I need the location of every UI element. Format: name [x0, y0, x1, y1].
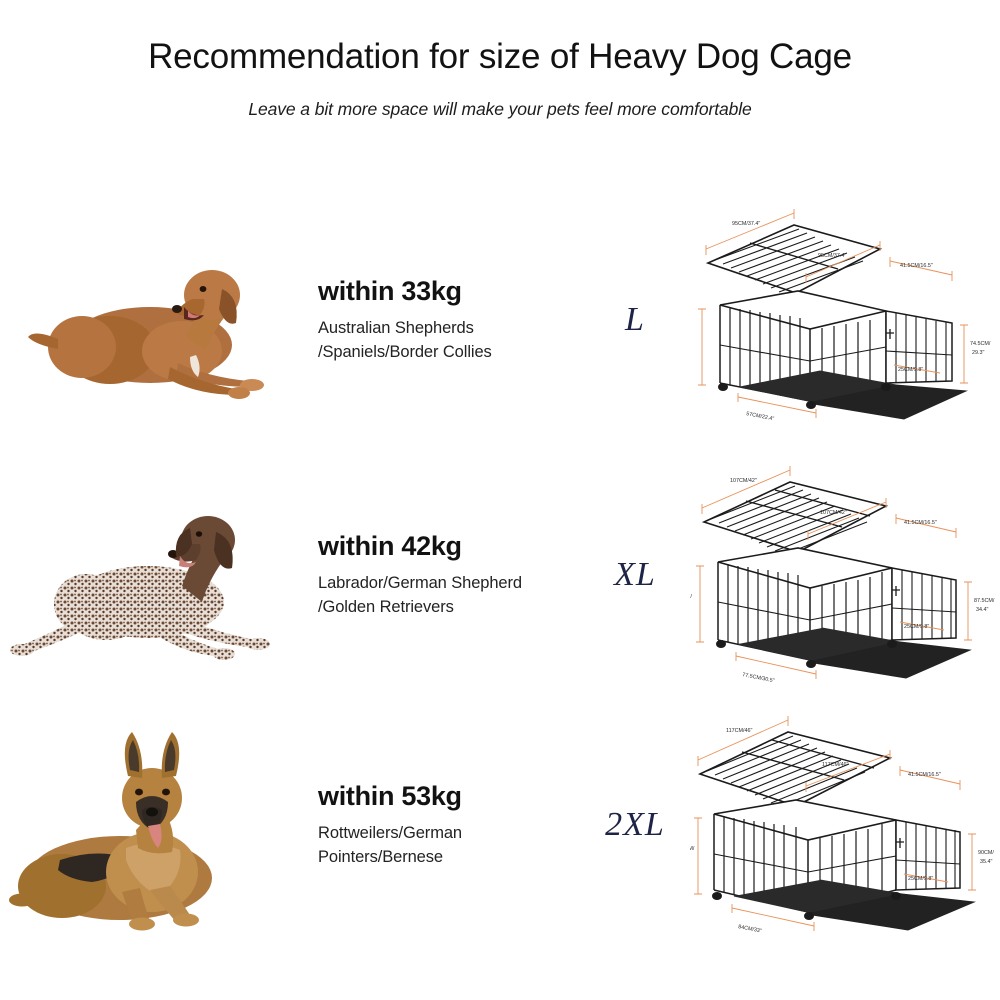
dim-body-depth-3: 117CM/46": [822, 762, 848, 768]
dim-right-height-2a: 87.5CM/: [974, 598, 995, 604]
size-row-2xl: within 53kg Rottweilers/German Pointers/…: [0, 700, 1000, 950]
dim-base-width-2: 77.5CM/30.5": [742, 672, 775, 684]
cage-diagram-xl-icon: 107CM/42" 107CM/42" 41.5CM/16.5" 94CM/ 3…: [690, 460, 1000, 690]
page-title: Recommendation for size of Heavy Dog Cag…: [0, 38, 1000, 77]
dim-right-height-1a: 74.5CM/: [970, 341, 991, 347]
dim-body-depth-2: 107CM/42": [820, 510, 847, 516]
size-info-cell-1: within 33kg Australian Shepherds /Spanie…: [300, 276, 580, 365]
size-code-xl: XL: [614, 556, 656, 593]
size-info-cell-2: within 42kg Labrador/German Shepherd /Go…: [300, 531, 580, 620]
dim-right-height-3a: 90CM/: [978, 850, 994, 856]
breed-line-2a: Labrador/German Shepherd: [318, 572, 580, 596]
dog-photo-cell-1: [0, 205, 300, 435]
cage-diagram-cell-1: 95CM/37.4" 95CM/37.4" 41.5CM/16.5" 81CM/…: [690, 205, 1000, 435]
size-row-l: within 33kg Australian Shepherds /Spanie…: [0, 195, 1000, 445]
dim-door-width-3: 41.5CM/16.5": [908, 772, 941, 778]
cage-diagram-cell-3: 117CM/46" 117CM/46" 41.5CM/16.5" 96.5CM/…: [690, 710, 1000, 940]
dim-base-width-1: 57CM/22.4": [746, 411, 775, 422]
dim-small-door-3: 25CM/9.8": [908, 876, 933, 882]
dog-lying-pointer-icon: [0, 460, 300, 690]
weight-label-1: within 33kg: [318, 276, 580, 307]
dim-body-depth-1: 95CM/37.4": [818, 253, 846, 259]
dog-photo-cell-2: [0, 460, 300, 690]
dim-lid-width-1: 95CM/37.4": [732, 221, 760, 227]
size-code-2xl: 2XL: [605, 806, 665, 843]
dog-photo-cell-3: [0, 710, 300, 940]
breed-line-3b: Pointers/Bernese: [318, 846, 580, 870]
dim-right-height-1b: 29.3": [972, 350, 984, 356]
size-code-cell-3: 2XL: [580, 806, 690, 844]
size-code-cell-2: XL: [580, 556, 690, 594]
dim-left-height-3a: 96.5CM/: [690, 846, 695, 852]
dim-lid-width-2: 107CM/42": [730, 478, 757, 484]
dim-door-width-2: 41.5CM/16.5": [904, 520, 937, 526]
cage-diagram-l-icon: 95CM/37.4" 95CM/37.4" 41.5CM/16.5" 81CM/…: [690, 205, 1000, 435]
breed-line-1b: /Spaniels/Border Collies: [318, 341, 580, 365]
header: Recommendation for size of Heavy Dog Cag…: [0, 0, 1000, 120]
size-row-xl: within 42kg Labrador/German Shepherd /Go…: [0, 450, 1000, 700]
breed-line-2b: /Golden Retrievers: [318, 596, 580, 620]
weight-label-2: within 42kg: [318, 531, 580, 562]
dim-lid-width-3: 117CM/46": [726, 728, 752, 734]
size-code-l: L: [625, 301, 645, 338]
page-subtitle: Leave a bit more space will make your pe…: [0, 99, 1000, 120]
dim-small-door-2: 25CM/9.8": [904, 624, 929, 630]
dim-door-width-1: 41.5CM/16.5": [900, 263, 933, 269]
size-info-cell-3: within 53kg Rottweilers/German Pointers/…: [300, 781, 580, 870]
infographic-page: Recommendation for size of Heavy Dog Cag…: [0, 0, 1000, 1000]
cage-diagram-2xl-icon: 117CM/46" 117CM/46" 41.5CM/16.5" 96.5CM/…: [690, 710, 1000, 940]
cage-diagram-cell-2: 107CM/42" 107CM/42" 41.5CM/16.5" 94CM/ 3…: [690, 460, 1000, 690]
size-code-cell-1: L: [580, 301, 690, 339]
dim-base-width-3: 84CM/33": [738, 924, 763, 934]
weight-label-3: within 53kg: [318, 781, 580, 812]
dim-right-height-3b: 35.4": [980, 859, 992, 865]
breed-line-3a: Rottweilers/German: [318, 822, 580, 846]
dog-lying-german-shepherd-icon: [0, 710, 300, 940]
breed-line-1a: Australian Shepherds: [318, 317, 580, 341]
dog-lying-redbone-icon: [0, 205, 300, 435]
dim-small-door-1: 25CM/9.8": [898, 367, 923, 373]
dim-left-height-2a: 94CM/: [690, 594, 692, 600]
dim-right-height-2b: 34.4": [976, 607, 988, 613]
